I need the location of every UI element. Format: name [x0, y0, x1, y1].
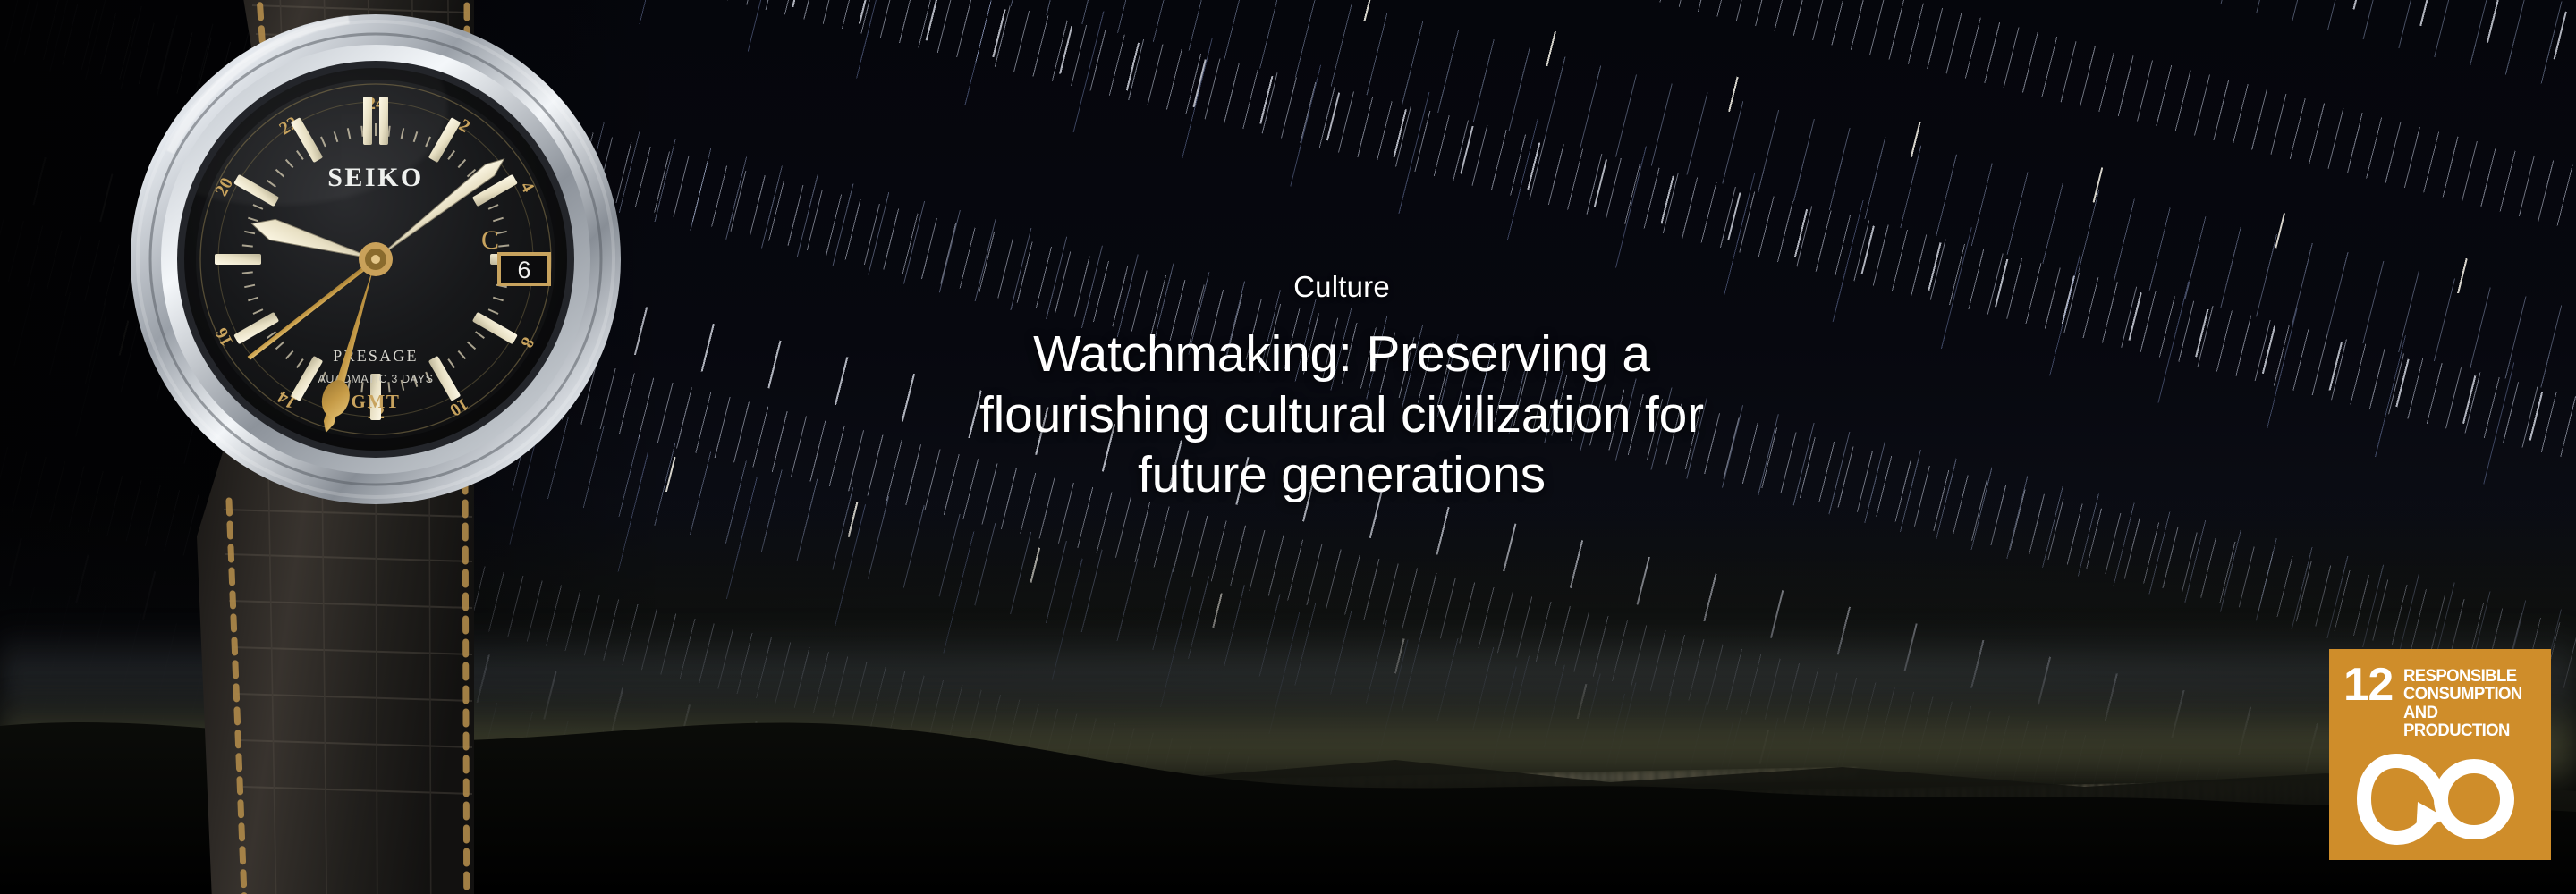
- sdg-title-line-3: AND PRODUCTION: [2403, 704, 2530, 740]
- date-value: 6: [517, 257, 530, 283]
- seiko-logo: SEIKO: [327, 163, 424, 192]
- headline-line-2: flourishing cultural civilization for: [979, 386, 1704, 443]
- sdg-title-line-2: CONSUMPTION: [2403, 685, 2530, 703]
- mobius-infinity-loop-icon: [2357, 752, 2523, 847]
- category-eyebrow: Culture: [805, 268, 1878, 305]
- headline-line-3: future generations: [1138, 446, 1546, 503]
- sdg-title: RESPONSIBLE CONSUMPTION AND PRODUCTION: [2403, 665, 2530, 739]
- sdg-number: 12: [2343, 665, 2393, 706]
- sdg-title-line-1: RESPONSIBLE: [2403, 667, 2530, 685]
- date-window: 6: [497, 252, 551, 286]
- hero-banner: 24 2 4 8 10 12 14 16 20 22: [0, 0, 2576, 894]
- page-title: Watchmaking: Preserving a flourishing cu…: [805, 325, 1878, 505]
- gmt-label: GMT: [352, 391, 401, 412]
- sdg-icon-wrap: [2343, 752, 2537, 847]
- sdg-header: 12 RESPONSIBLE CONSUMPTION AND PRODUCTIO…: [2343, 665, 2537, 739]
- hero-copy-block: Culture Watchmaking: Preserving a flouri…: [805, 268, 1878, 505]
- headline-line-1: Watchmaking: Preserving a: [1033, 325, 1650, 383]
- dial-c-mark: C: [481, 225, 499, 255]
- sdg-goal-12-badge[interactable]: 12 RESPONSIBLE CONSUMPTION AND PRODUCTIO…: [2329, 649, 2551, 860]
- seiko-presage-gmt-watch: 24 2 4 8 10 12 14 16 20 22: [54, 0, 805, 894]
